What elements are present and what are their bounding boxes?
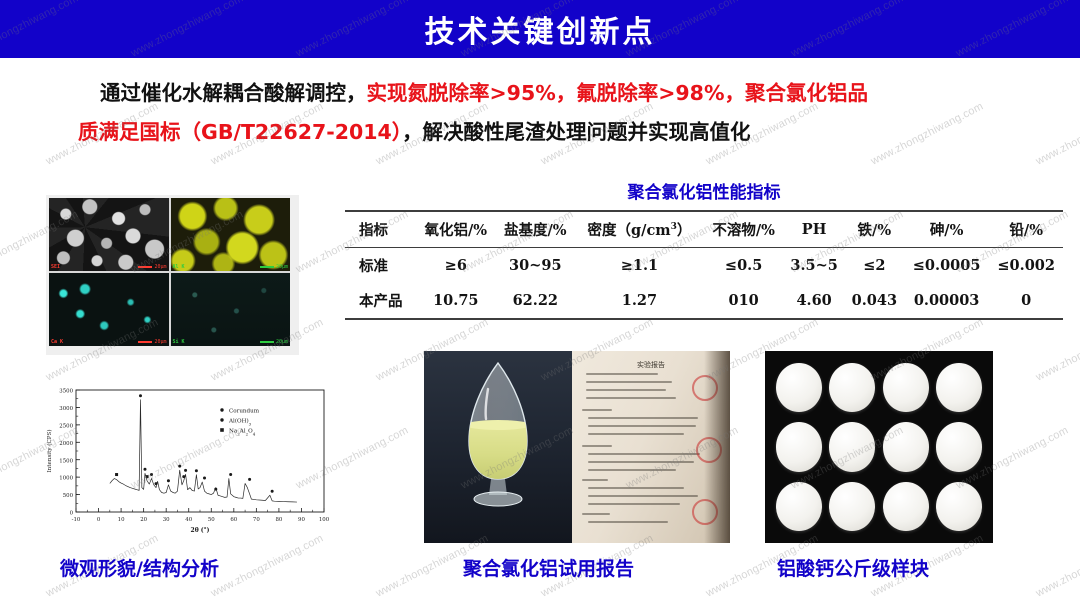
table-row-label: 标准	[345, 248, 416, 284]
table-cell: 0	[989, 283, 1063, 319]
sample-disc	[776, 482, 822, 532]
sem-eds-grid: SEI 20μm Al K 20μm Ca K 20μm Si K 20μm	[49, 198, 290, 346]
report-text-line	[582, 409, 612, 411]
table-column-header: PH	[783, 211, 844, 248]
report-text-line	[586, 397, 676, 399]
sem-cell-calcium-map: Ca K 20μm	[49, 273, 169, 346]
report-text-line	[588, 495, 698, 497]
table-column-header: 指标	[345, 211, 416, 248]
svg-text:100: 100	[319, 517, 330, 523]
page-title: 技术关键创新点	[425, 7, 656, 51]
svg-text:500: 500	[63, 493, 74, 499]
xrd-chart-svg: 0500100015002000250030003500-10010203040…	[42, 376, 334, 542]
svg-text:70: 70	[253, 517, 260, 523]
caption-samples: 铝酸钙公斤级样块	[777, 554, 929, 581]
svg-text:90: 90	[298, 517, 305, 523]
performance-table-block: 聚合氯化铝性能指标 指标氧化铝/%盐基度/%密度（g/cm3）不溶物/%PH铁/…	[345, 178, 1063, 320]
svg-text:80: 80	[275, 517, 282, 523]
sem-scale-bar: 20μm	[260, 339, 288, 345]
test-report-document-photo: 实验报告	[572, 351, 730, 543]
table-column-header: 盐基度/%	[496, 211, 576, 248]
svg-text:Corundum: Corundum	[229, 408, 260, 414]
svg-text:10: 10	[118, 517, 125, 523]
table-column-header: 砷/%	[904, 211, 990, 248]
intro-text-black-2: ，解决酸性尾渣处理问题并实现高值化	[402, 120, 751, 144]
svg-text:2500: 2500	[59, 423, 73, 429]
report-text-line	[586, 381, 672, 383]
svg-text:40: 40	[185, 517, 192, 523]
report-text-line	[588, 487, 684, 489]
sample-disc	[829, 363, 875, 413]
svg-text:60: 60	[230, 517, 237, 523]
sample-disc	[776, 363, 822, 413]
table-row-label: 本产品	[345, 283, 416, 319]
intro-text-black-1: 通过催化水解耦合酸解调控，	[100, 81, 367, 105]
sample-disc	[936, 482, 982, 532]
svg-text:30: 30	[163, 517, 170, 523]
svg-text:-10: -10	[72, 517, 81, 523]
watermark-text: www.zhongzhiwang.com	[1034, 316, 1080, 383]
sample-disc	[883, 422, 929, 472]
intro-paragraph: 通过催化水解耦合酸解调控，实现氮脱除率>95%，氟脱除率>98%，聚合氯化铝品 …	[78, 74, 1013, 152]
table-row: 标准≥630~95≥1.1≤0.53.5~5≤2≤0.0005≤0.002	[345, 248, 1063, 284]
intro-line-2: 质满足国标（GB/T22627-2014），解决酸性尾渣处理问题并实现高值化	[78, 113, 1013, 152]
table-column-header: 铁/%	[845, 211, 904, 248]
sem-tag-label: SEI	[51, 264, 60, 270]
table-cell: ≤0.002	[989, 248, 1063, 284]
xrd-chart: 0500100015002000250030003500-10010203040…	[42, 376, 334, 542]
table-cell: ≥1.1	[575, 248, 704, 284]
report-text-line	[588, 433, 684, 435]
sem-scale-bar: 20μm	[138, 264, 166, 270]
caption-report: 聚合氯化铝试用报告	[463, 554, 634, 581]
sem-cell-secondary-electron: SEI 20μm	[49, 198, 169, 271]
caption-microstructure: 微观形貌/结构分析	[60, 554, 219, 581]
svg-text:0: 0	[97, 517, 101, 523]
sample-disc	[883, 363, 929, 413]
intro-text-red-1: 实现氮脱除率>95%，氟脱除率>98%，聚合氯化铝品	[367, 81, 869, 105]
report-text-line	[582, 445, 612, 447]
sem-tag-label: Si K	[173, 339, 185, 345]
svg-text:3000: 3000	[59, 406, 73, 412]
sample-disc	[829, 482, 875, 532]
sem-eds-image-panel: SEI 20μm Al K 20μm Ca K 20μm Si K 20μm	[46, 195, 299, 355]
slide-header-bar: 技术关键创新点	[0, 0, 1080, 58]
svg-text:2000: 2000	[59, 441, 73, 447]
sem-scale-bar: 20μm	[138, 339, 166, 345]
svg-text:2θ (°): 2θ (°)	[191, 527, 210, 534]
sample-disc	[936, 363, 982, 413]
report-text-line	[588, 521, 668, 523]
sem-cell-aluminium-map: Al K 20μm	[171, 198, 291, 271]
report-text-line	[582, 513, 610, 515]
table-cell: ≤0.5	[704, 248, 784, 284]
calcium-aluminate-samples-photo	[765, 351, 993, 543]
table-cell: ≥6	[416, 248, 496, 284]
sample-disc	[883, 482, 929, 532]
intro-text-red-2: 质满足国标（GB/T22627-2014）	[78, 120, 402, 144]
sem-tag-label: Al K	[173, 264, 185, 270]
report-text-line	[586, 373, 658, 375]
svg-text:1000: 1000	[59, 476, 73, 482]
svg-text:1500: 1500	[59, 458, 73, 464]
watermark-text: www.zhongzhiwang.com	[1034, 532, 1080, 599]
report-text-line	[582, 479, 608, 481]
sem-tag-label: Ca K	[51, 339, 63, 345]
table-cell: ≤0.0005	[904, 248, 990, 284]
table-column-header: 氧化铝/%	[416, 211, 496, 248]
table-column-header: 不溶物/%	[704, 211, 784, 248]
table-cell: ≤2	[845, 248, 904, 284]
sem-cell-silicon-map: Si K 20μm	[171, 273, 291, 346]
svg-text:50: 50	[208, 517, 215, 523]
product-and-report-photo: 实验报告	[424, 351, 730, 543]
table-cell: 010	[704, 283, 784, 319]
performance-table-body: 标准≥630~95≥1.1≤0.53.5~5≤2≤0.0005≤0.002本产品…	[345, 248, 1063, 320]
sample-disc	[829, 422, 875, 472]
table-cell: 4.60	[783, 283, 844, 319]
page-shadow	[704, 351, 730, 543]
sem-scale-bar: 20μm	[260, 264, 288, 270]
table-cell: 10.75	[416, 283, 496, 319]
table-column-header: 铅/%	[989, 211, 1063, 248]
table-row: 本产品10.7562.221.270104.600.0430.000030	[345, 283, 1063, 319]
intro-line-1: 通过催化水解耦合酸解调控，实现氮脱除率>95%，氟脱除率>98%，聚合氯化铝品	[78, 74, 1013, 113]
svg-text:20: 20	[140, 517, 147, 523]
sample-disc	[776, 422, 822, 472]
report-text-line	[586, 389, 666, 391]
watermark-text: www.zhongzhiwang.com	[1034, 100, 1080, 167]
performance-table-title: 聚合氯化铝性能指标	[345, 178, 1063, 203]
svg-text:Intensity (CPS): Intensity (CPS)	[46, 429, 53, 472]
report-text-line	[588, 461, 694, 463]
table-column-header: 密度（g/cm3）	[575, 211, 704, 248]
table-cell: 3.5~5	[783, 248, 844, 284]
report-text-line	[588, 503, 680, 505]
table-cell: 30~95	[496, 248, 576, 284]
report-text-line	[588, 453, 700, 455]
report-text-line	[588, 469, 676, 471]
performance-table-head: 指标氧化铝/%盐基度/%密度（g/cm3）不溶物/%PH铁/%砷/%铅/%	[345, 211, 1063, 248]
table-cell: 62.22	[496, 283, 576, 319]
table-header-row: 指标氧化铝/%盐基度/%密度（g/cm3）不溶物/%PH铁/%砷/%铅/%	[345, 211, 1063, 248]
performance-table: 指标氧化铝/%盐基度/%密度（g/cm3）不溶物/%PH铁/%砷/%铅/% 标准…	[345, 210, 1063, 320]
report-text-line	[588, 425, 696, 427]
sample-disc	[936, 422, 982, 472]
table-cell: 0.00003	[904, 283, 990, 319]
table-cell: 1.27	[575, 283, 704, 319]
table-cell: 0.043	[845, 283, 904, 319]
product-bottle-photo	[424, 351, 572, 543]
watermark-text: www.zhongzhiwang.com	[209, 532, 325, 599]
svg-text:0: 0	[70, 511, 74, 517]
report-text-line	[588, 417, 698, 419]
glass-bottle-illustration	[455, 361, 541, 511]
svg-text:3500: 3500	[59, 389, 73, 395]
